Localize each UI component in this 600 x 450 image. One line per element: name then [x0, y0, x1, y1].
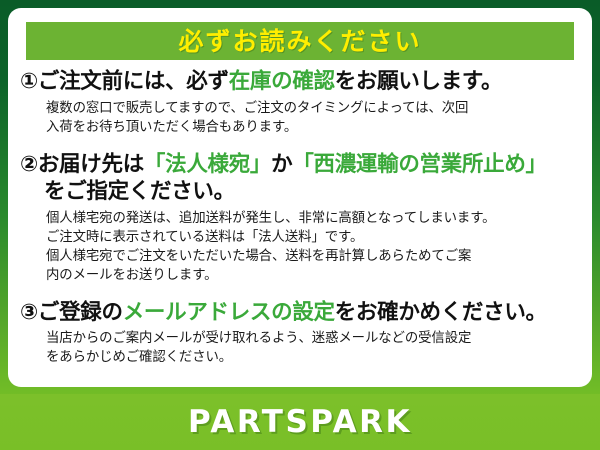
notice-title-banner: 必ずお読みください [26, 22, 574, 60]
notice-item-1-heading-before: ご注文前には、必ず [38, 69, 229, 94]
notice-item-3-heading-before: ご登録の [38, 300, 123, 325]
notice-item-2-heading: ②お届け先は「法人様宛」か「西濃運輸の営業所止め」 [20, 151, 582, 179]
brand-logo-text: PARTSPARK [188, 407, 412, 438]
notice-item-3: ③ご登録のメールアドレスの設定をお確かめください。 当店からのご案内メールが受け… [8, 299, 592, 368]
notice-item-2-body-line-3: 個人様宅宛でご注文をいただいた場合、送料を再計算しあらためてご案 [46, 247, 582, 266]
notice-items-list: ①ご注文前には、必ず在庫の確認をお願いします。 複数の窓口で販売してますので、ご… [8, 68, 592, 367]
notice-item-1: ①ご注文前には、必ず在庫の確認をお願いします。 複数の窓口で販売してますので、ご… [8, 68, 592, 137]
notice-title-text: 必ずお読みください [178, 29, 421, 54]
notice-item-2-heading-line-2: をご指定ください。 [44, 178, 582, 206]
notice-item-2-heading-highlight: 「法人様宛」 [144, 152, 271, 177]
notice-item-1-body-line-1: 複数の窓口で販売してますので、ご注文のタイミングによっては、次回 [46, 99, 582, 118]
notice-item-3-body: 当店からのご案内メールが受け取れるよう、迷惑メールなどの受信設定 をあらかじめご… [46, 329, 582, 367]
notice-item-1-heading-after: をお願いします。 [335, 69, 502, 94]
notice-frame: 必ずお読みください ①ご注文前には、必ず在庫の確認をお願いします。 複数の窓口で… [0, 0, 600, 450]
notice-item-3-heading: ③ご登録のメールアドレスの設定をお確かめください。 [20, 299, 582, 327]
notice-panel: 必ずお読みください ①ご注文前には、必ず在庫の確認をお願いします。 複数の窓口で… [8, 8, 592, 387]
notice-item-2-heading-before: お届け先は [38, 152, 144, 177]
notice-item-2-body-line-1: 個人様宅宛の発送は、追加送料が発生し、非常に高額となってしまいます。 [46, 209, 582, 228]
notice-item-2-body-line-2: ご注文時に表示されている送料は「法人送料」です。 [46, 228, 582, 247]
notice-item-1-heading-highlight: 在庫の確認 [229, 69, 335, 94]
notice-item-2: ②お届け先は「法人様宛」か「西濃運輸の営業所止め」 をご指定ください。 個人様宅… [8, 151, 592, 285]
notice-item-2-heading-middle: か [271, 152, 292, 177]
notice-item-3-body-line-2: をあらかじめご確認ください。 [46, 348, 582, 367]
notice-item-3-body-line-1: 当店からのご案内メールが受け取れるよう、迷惑メールなどの受信設定 [46, 329, 582, 348]
notice-item-1-body-line-2: 入荷をお待ち頂いただく場合もあります。 [46, 118, 582, 137]
notice-item-3-number: ③ [20, 300, 38, 325]
notice-item-1-number: ① [20, 69, 38, 94]
notice-item-2-body: 個人様宅宛の発送は、追加送料が発生し、非常に高額となってしまいます。 ご注文時に… [46, 209, 582, 285]
brand-footer-bar: PARTSPARK [0, 394, 600, 450]
notice-item-2-heading-highlight-2: 「西濃運輸の営業所止め」 [292, 152, 546, 177]
notice-item-2-number: ② [20, 152, 38, 177]
notice-item-3-heading-after: をお確かめください。 [335, 300, 547, 325]
notice-item-1-heading: ①ご注文前には、必ず在庫の確認をお願いします。 [20, 68, 582, 96]
notice-item-1-body: 複数の窓口で販売してますので、ご注文のタイミングによっては、次回 入荷をお待ち頂… [46, 99, 582, 137]
notice-item-3-heading-highlight: メールアドレスの設定 [123, 300, 335, 325]
notice-item-2-body-line-4: 内のメールをお送りします。 [46, 266, 582, 285]
